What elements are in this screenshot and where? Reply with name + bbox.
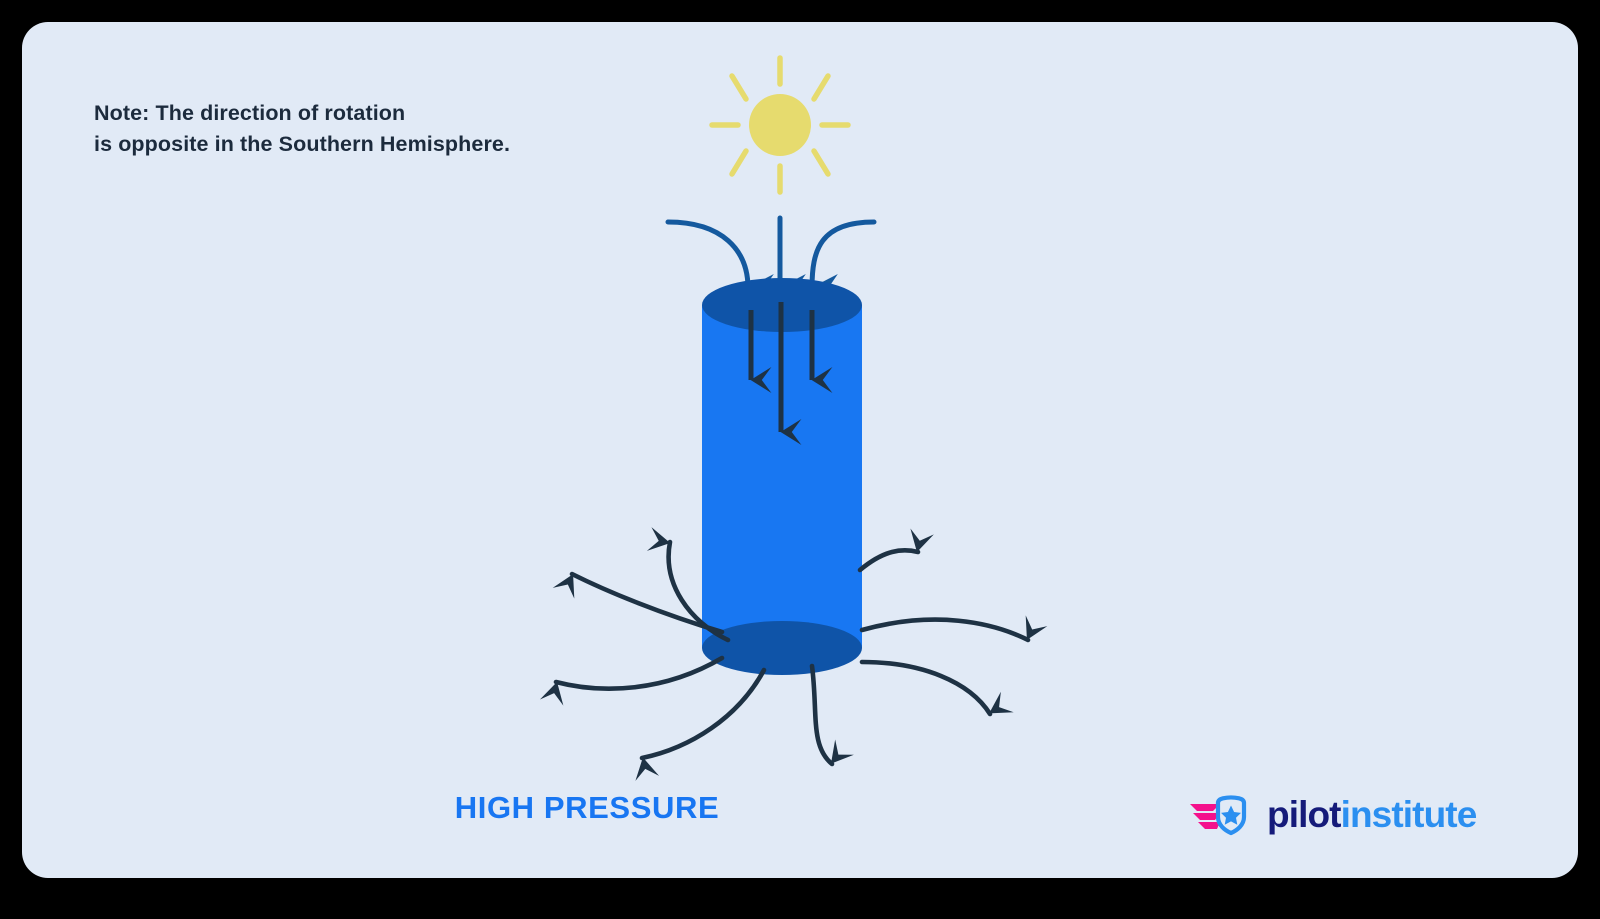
sun-icon [712, 58, 848, 192]
sun-ray-sw [732, 151, 746, 174]
logo-word-pilot: pilot [1267, 794, 1341, 835]
outflow-arrow-7 [862, 620, 1028, 640]
inflow-arrow-left [668, 222, 748, 288]
screenshot-root: Note: The direction of rotation is oppos… [0, 0, 1600, 919]
outflow-arrow-2 [572, 574, 722, 632]
note-text: Note: The direction of rotation is oppos… [94, 98, 510, 160]
page-title: HIGH PRESSURE [22, 790, 1152, 826]
outflow-arrow-8 [860, 550, 918, 570]
star-icon [1221, 806, 1241, 825]
cylinder-bottom-cap [702, 621, 862, 675]
sun-disc [749, 94, 811, 156]
wing-icon [1190, 804, 1220, 829]
note-line-2: is opposite in the Southern Hemisphere. [94, 129, 510, 160]
outflow-arrow-3 [556, 658, 722, 689]
logo-wordmark: pilotinstitute [1267, 796, 1476, 833]
pilot-institute-logo[interactable]: pilotinstitute [1190, 792, 1476, 836]
sun-ray-ne [814, 76, 828, 99]
winged-shield-icon [1190, 792, 1258, 836]
outflow-arrow-6 [862, 662, 990, 714]
sun-ray-nw [732, 76, 746, 99]
inflow-arrow-right [812, 222, 874, 288]
note-line-1: Note: The direction of rotation [94, 98, 510, 129]
inflow-arrow-group [668, 218, 874, 288]
diagram-card: Note: The direction of rotation is oppos… [22, 22, 1578, 878]
logo-word-institute: institute [1341, 794, 1477, 835]
outflow-arrow-5 [812, 666, 832, 764]
sun-ray-se [814, 151, 828, 174]
